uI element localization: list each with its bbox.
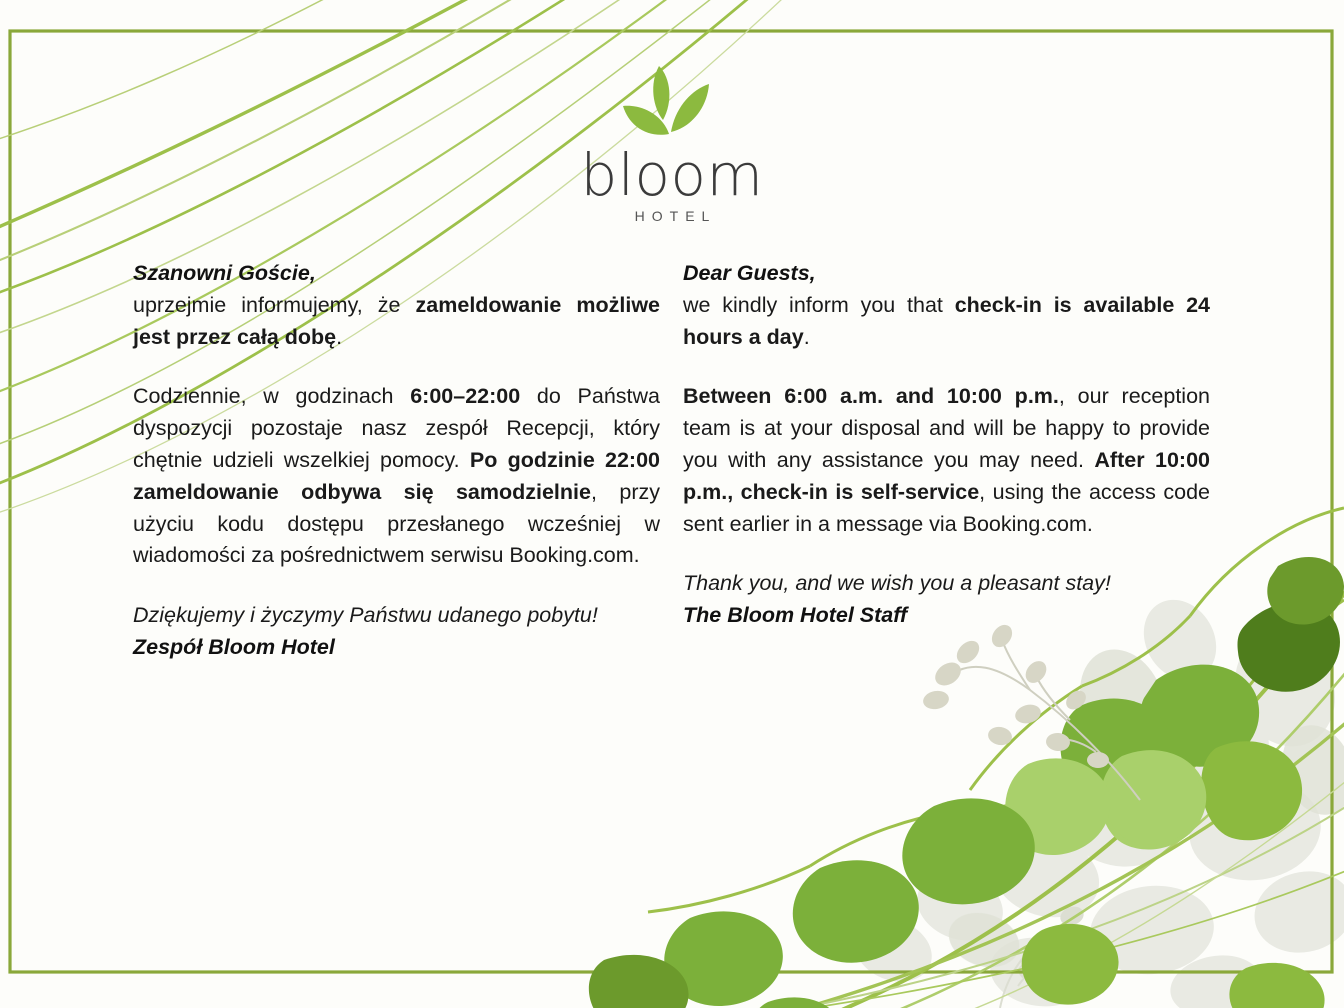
english-body-bold-1: Between 6:00 a.m. and 10:00 p.m.: [683, 384, 1059, 408]
leaf-mid-1: [1141, 665, 1260, 767]
ghost-sprig-stem: [1000, 918, 1080, 1008]
leaf-mid-7: [1022, 924, 1119, 1005]
polish-closing-line: Dziękujemy i życzymy Państwu udanego pob…: [133, 600, 660, 632]
leaf-mid-5: [793, 860, 919, 962]
polish-signature: Zespół Bloom Hotel: [133, 632, 660, 664]
english-intro-plain-2: .: [804, 325, 810, 349]
leaf-dark-3: [589, 955, 689, 1008]
english-greeting: Dear Guests,: [683, 258, 1210, 290]
english-closing-line: Thank you, and we wish you a pleasant st…: [683, 568, 1210, 600]
text-columns: Szanowni Goście, uprzejmie informujemy, …: [0, 258, 1344, 664]
leaf-light-3: [1005, 758, 1110, 855]
leaf-mid-2: [1060, 698, 1172, 802]
notice-card-page: bloom HOTEL Szanowni Goście, uprzejmie i…: [0, 0, 1344, 1008]
beige-sprig-stem: [944, 640, 1140, 800]
polish-intro-plain-2: .: [336, 325, 342, 349]
logo-wordmark: bloom: [0, 144, 1344, 206]
bloom-hotel-logo: bloom HOTEL: [0, 62, 1344, 224]
english-body-paragraph: Between 6:00 a.m. and 10:00 p.m., our re…: [683, 381, 1210, 540]
polish-intro-plain-1: uprzejmie informujemy, że: [133, 293, 416, 317]
leaf-mid-6: [664, 911, 783, 1006]
logo-subtitle: HOTEL: [0, 208, 1344, 224]
english-intro-paragraph: we kindly inform you that check-in is av…: [683, 290, 1210, 354]
english-intro-plain-1: we kindly inform you that: [683, 293, 955, 317]
leaf-mid-9: [752, 997, 840, 1008]
polish-intro-paragraph: uprzejmie informujemy, że zameldowanie m…: [133, 290, 660, 354]
english-column: Dear Guests, we kindly inform you that c…: [683, 258, 1210, 664]
leaf-light-2: [1106, 753, 1203, 845]
leaf-light-1: [1100, 750, 1206, 849]
polish-body-paragraph: Codziennie, w godzinach 6:00–22:00 do Pa…: [133, 381, 660, 572]
leaf-mid-4: [902, 798, 1034, 904]
polish-column: Szanowni Goście, uprzejmie informujemy, …: [133, 258, 660, 664]
three-leaves-icon: [613, 62, 731, 148]
english-signature: The Bloom Hotel Staff: [683, 600, 1210, 632]
polish-greeting: Szanowni Goście,: [133, 258, 660, 290]
polish-body-bold-1: 6:00–22:00: [410, 384, 520, 408]
ghost-sprig-leaves: [1016, 903, 1087, 983]
polish-body-plain-1: Codziennie, w godzinach: [133, 384, 410, 408]
leaf-mid-8: [1229, 963, 1324, 1008]
ghost-leaf-cluster-2: [942, 637, 1344, 976]
leaf-mid-3: [1201, 741, 1302, 840]
